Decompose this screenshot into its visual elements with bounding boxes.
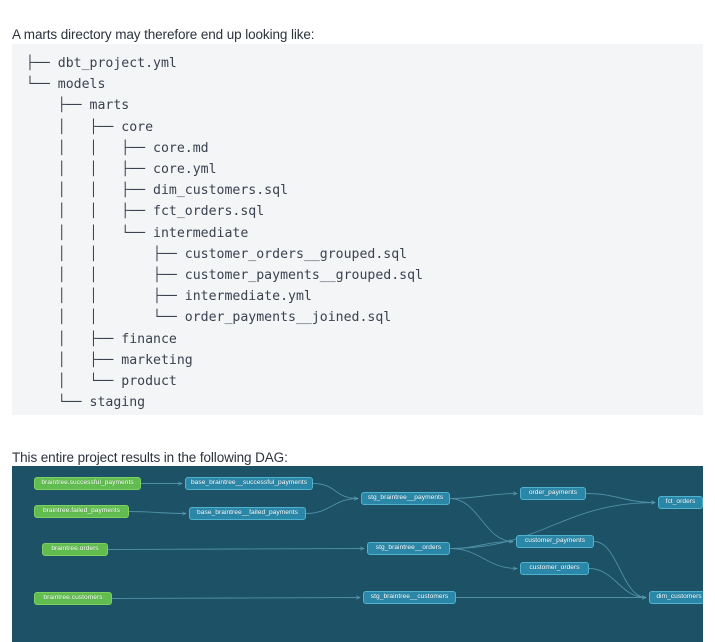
dag-node-src_failed_payments[interactable]: braintree.failed_payments	[34, 505, 129, 518]
dag-edge-base_successful_payments-to-stg_payments	[313, 484, 358, 499]
dag-node-customer_orders[interactable]: customer_orders	[520, 562, 589, 575]
directory-tree-code-block: ├── dbt_project.yml └── models ├── marts…	[12, 44, 703, 415]
dag-node-stg_customers[interactable]: stg_braintree__customers	[363, 591, 456, 604]
dag-edge-customer_payments-to-dim_customers	[594, 542, 646, 598]
dag-node-stg_orders[interactable]: stg_braintree__orders	[367, 542, 450, 555]
documentation-page: A marts directory may therefore end up l…	[0, 0, 715, 640]
dag-node-dim_customers[interactable]: dim_customers	[649, 591, 703, 604]
dag-edge-base_failed_payments-to-stg_payments	[306, 499, 358, 514]
dag-edge-stg_orders-to-customer_orders	[450, 549, 517, 569]
dag-edge-customer_orders-to-dim_customers	[589, 569, 646, 598]
paragraph-marts-directory: A marts directory may therefore end up l…	[12, 25, 314, 45]
dag-node-stg_payments[interactable]: stg_braintree__payments	[361, 492, 450, 505]
paragraph-dag-intro: This entire project results in the follo…	[12, 448, 288, 468]
dag-edge-stg_payments-to-order_payments	[450, 494, 517, 499]
directory-tree-text: ├── dbt_project.yml └── models ├── marts…	[26, 53, 689, 413]
dag-edge-src_customers-to-stg_customers	[112, 598, 360, 599]
dag-edge-src_failed_payments-to-base_failed_payments	[129, 512, 186, 514]
dag-node-order_payments[interactable]: order_payments	[520, 487, 586, 500]
dag-edge-order_payments-to-fct_orders	[586, 494, 655, 503]
dag-node-src_successful_payments[interactable]: braintree.successful_payments	[34, 477, 141, 490]
dag-node-fct_orders[interactable]: fct_orders	[658, 496, 703, 509]
dag-node-src_orders[interactable]: braintree.orders	[42, 543, 108, 556]
dag-node-base_failed_payments[interactable]: base_braintree__failed_payments	[189, 507, 306, 520]
dag-node-base_successful_payments[interactable]: base_braintree__successful_payments	[185, 477, 313, 490]
dag-node-customer_payments[interactable]: customer_payments	[516, 535, 594, 548]
dag-edge-stg_payments-to-customer_payments	[450, 499, 513, 542]
dag-diagram-panel[interactable]: braintree.successful_paymentsbraintree.f…	[12, 466, 703, 642]
dag-node-src_customers[interactable]: braintree.customers	[34, 592, 112, 605]
dag-edge-layer	[12, 466, 703, 642]
dag-edge-src_orders-to-stg_orders	[108, 549, 364, 550]
